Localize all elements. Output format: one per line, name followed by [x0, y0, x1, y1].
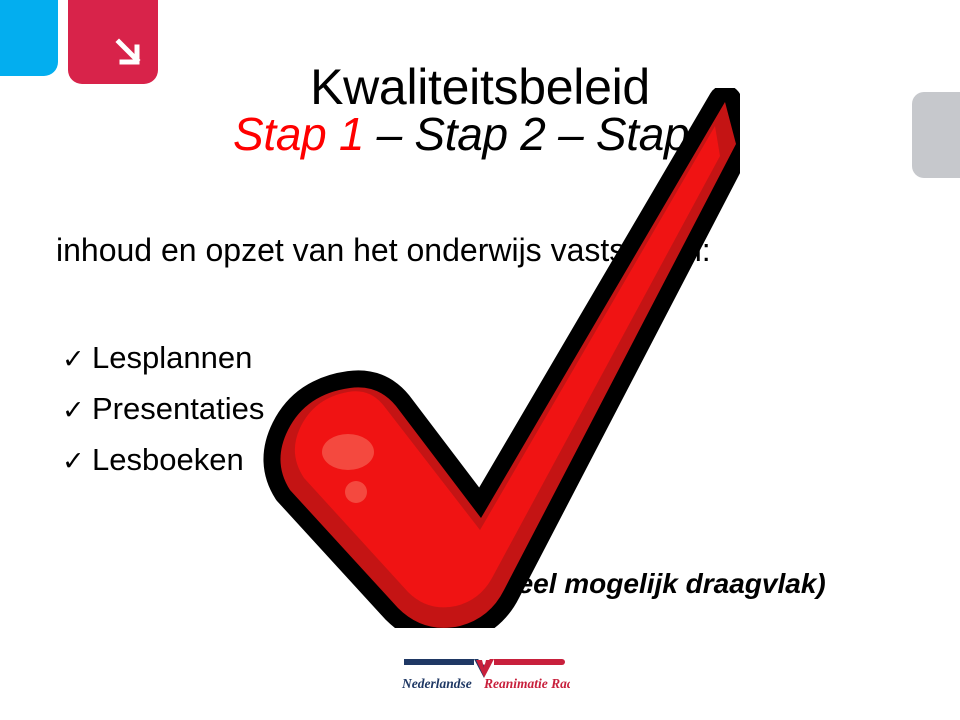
checkmark-icon: ✓: [62, 395, 92, 426]
list-item: ✓ Lesplannen: [62, 340, 502, 391]
checkmark-icon: ✓: [62, 446, 92, 477]
title-step-one: Stap 1: [233, 108, 364, 160]
body-lead-text: inhoud en opzet van het onderwijs vastst…: [56, 232, 711, 269]
title-step-rest: – Stap 2 – Stap 3: [364, 108, 727, 160]
nederlandse-reanimatie-raad-logo: Nederlandse Reanimatie Raad: [398, 648, 570, 694]
title-line-primary: Kwaliteitsbeleid: [0, 62, 960, 113]
list-item-label: Lesplannen: [92, 340, 252, 376]
title-line-secondary: Stap 1 – Stap 2 – Stap 3: [0, 111, 960, 158]
checkmark-icon: ✓: [62, 344, 92, 375]
logo-text-navy: Nederlandse: [401, 676, 472, 691]
list-item: ✓ Presentaties: [62, 391, 502, 442]
list-item-label: Lesboeken: [92, 442, 244, 478]
list-item: ✓ Lesboeken: [62, 442, 502, 493]
footnote-text: (met zoveel mogelijk draagvlak): [404, 568, 826, 600]
bullet-list: ✓ Lesplannen ✓ Presentaties ✓ Lesboeken: [62, 340, 502, 493]
logo-text-red: Reanimatie Raad: [483, 676, 570, 691]
list-item-label: Presentaties: [92, 391, 264, 427]
page-title: Kwaliteitsbeleid Stap 1 – Stap 2 – Stap …: [0, 62, 960, 158]
slide-canvas: Kwaliteitsbeleid Stap 1 – Stap 2 – Stap …: [0, 0, 960, 720]
